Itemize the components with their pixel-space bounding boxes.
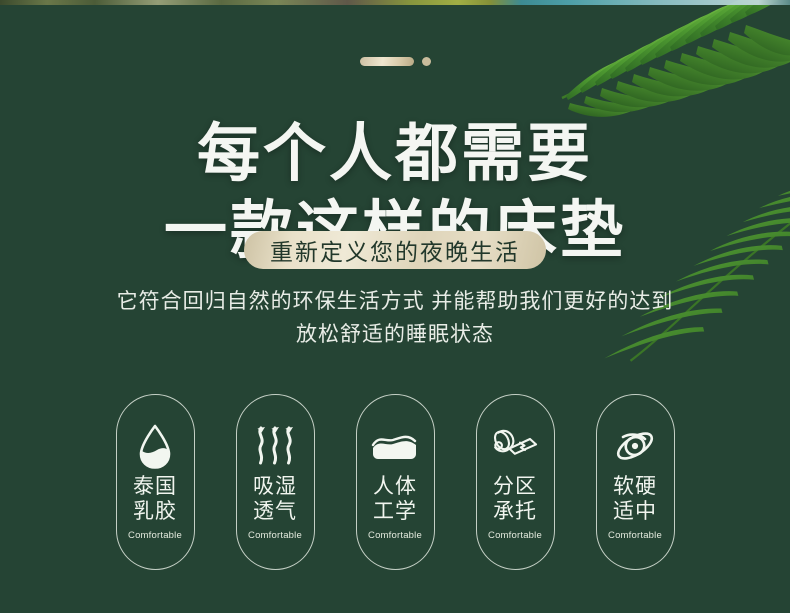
feature-title-breathable: 吸湿 透气 — [253, 475, 297, 525]
feature-title-line-2: 承托 — [493, 500, 537, 525]
feature-title-line-1: 泰国 — [133, 475, 177, 500]
feature-subtitle: Comfortable — [608, 530, 662, 541]
decorative-bar-icon — [360, 57, 414, 66]
decorative-dot-icon — [422, 57, 431, 66]
subtitle: 它符合回归自然的环保生活方式 并能帮助我们更好的达到 放松舒适的睡眠状态 — [0, 286, 790, 351]
feature-badge-medium-firm: 软硬 适中 Comfortable — [596, 394, 675, 570]
ergonomic-mattress-icon — [369, 423, 421, 469]
moisture-vapor-icon — [249, 423, 301, 469]
tagline-badge: 重新定义您的夜晚生活 — [244, 231, 546, 269]
header-ornament — [0, 57, 790, 66]
rolled-mattress-icon — [489, 423, 541, 469]
previous-section-sliver — [0, 0, 790, 5]
feature-subtitle: Comfortable — [248, 530, 302, 541]
feature-subtitle: Comfortable — [368, 530, 422, 541]
subtitle-line-1: 它符合回归自然的环保生活方式 并能帮助我们更好的达到 — [0, 286, 790, 319]
feature-title-ergonomics: 人体 工学 — [373, 475, 417, 525]
feature-badge-zoned-support: 分区 承托 Comfortable — [476, 394, 555, 570]
tagline-badge-wrap: 重新定义您的夜晚生活 — [0, 231, 790, 269]
feature-title-zoned-support: 分区 承托 — [493, 475, 537, 525]
feature-title-latex: 泰国 乳胶 — [133, 475, 177, 525]
feature-badge-breathable: 吸湿 透气 Comfortable — [236, 394, 315, 570]
promo-banner: 每个人都需要 一款这样的床垫 重新定义您的夜晚生活 它符合回归自然的环保生活方式… — [0, 0, 790, 613]
feature-badge-latex: 泰国 乳胶 Comfortable — [116, 394, 195, 570]
feature-subtitle: Comfortable — [128, 530, 182, 541]
feature-title-line-2: 乳胶 — [133, 500, 177, 525]
feature-title-line-2: 透气 — [253, 500, 297, 525]
feature-badge-list: 泰国 乳胶 Comfortable — [0, 394, 790, 570]
feature-subtitle: Comfortable — [488, 530, 542, 541]
feature-title-medium-firm: 软硬 适中 — [613, 475, 657, 525]
latex-drop-icon — [129, 423, 181, 469]
feature-title-line-2: 适中 — [613, 500, 657, 525]
feature-title-line-1: 软硬 — [613, 475, 657, 500]
feature-title-line-1: 吸湿 — [253, 475, 297, 500]
feature-title-line-1: 人体 — [373, 475, 417, 500]
headline-line-1: 每个人都需要 — [0, 116, 790, 193]
feature-title-line-2: 工学 — [373, 500, 417, 525]
atom-orbit-icon — [609, 423, 661, 469]
subtitle-line-2: 放松舒适的睡眠状态 — [0, 319, 790, 352]
feature-title-line-1: 分区 — [493, 475, 537, 500]
feature-badge-ergonomics: 人体 工学 Comfortable — [356, 394, 435, 570]
